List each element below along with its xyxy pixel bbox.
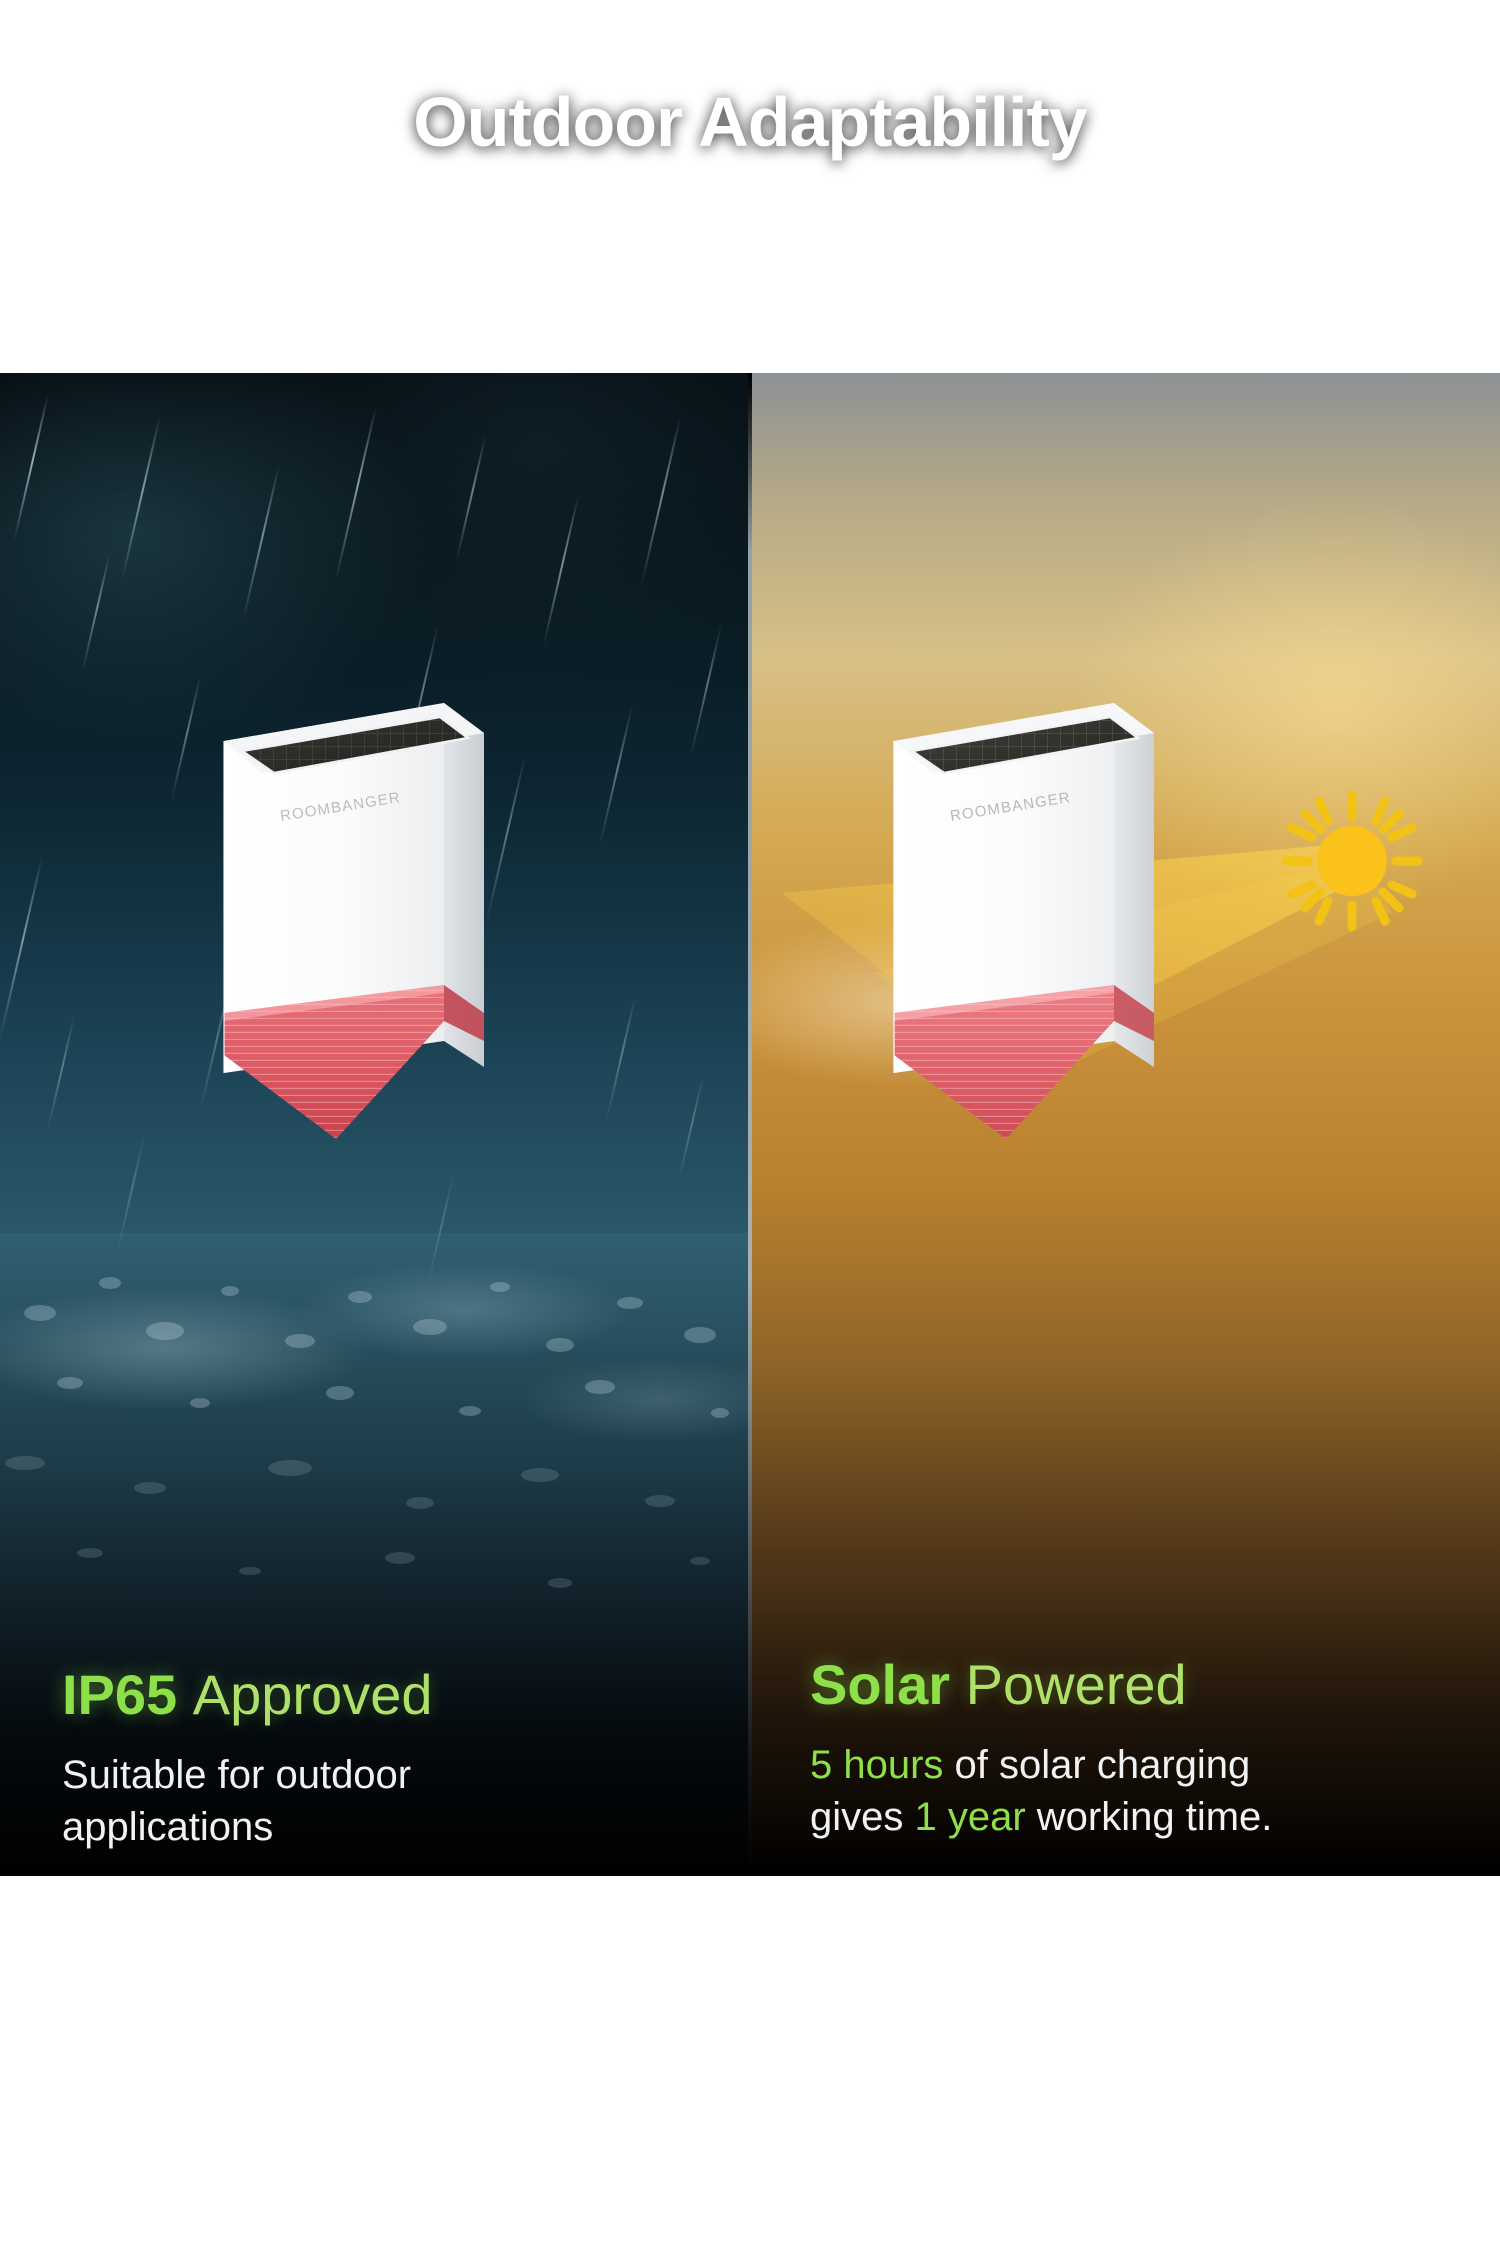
product-feature-image: ROOMBANGER	[0, 0, 1500, 2250]
caption-body-line1-left: Suitable for outdoor	[62, 1750, 702, 1801]
body-line2-rest: working time.	[1026, 1795, 1273, 1839]
sun-icon	[1272, 781, 1432, 941]
caption-body-line1-right: 5 hours of solar charging	[810, 1740, 1460, 1791]
panel-divider	[748, 373, 752, 1876]
water-droplets	[0, 1253, 748, 1673]
solar-siren-device-right: ROOMBANGER	[866, 669, 1196, 1209]
caption-body-line2-right: gives 1 year working time.	[810, 1792, 1460, 1843]
caption-body-left: Suitable for outdoor applications	[62, 1750, 702, 1852]
caption-heading-strong-left: IP65	[62, 1663, 177, 1726]
panel-rain-ip65: ROOMBANGER	[0, 373, 748, 1876]
image-banner: ROOMBANGER	[0, 373, 1500, 1876]
caption-heading-left: IP65 Approved	[62, 1665, 702, 1724]
solar-siren-device-left: ROOMBANGER	[196, 669, 526, 1209]
body-line1-rest: of solar charging	[943, 1743, 1250, 1787]
panel-solar-powered: ROOMBANGER	[752, 373, 1500, 1876]
caption-solar: Solar Powered 5 hours of solar charging …	[810, 1655, 1460, 1843]
caption-heading-strong-right: Solar	[810, 1653, 950, 1716]
highlight-year: 1 year	[915, 1795, 1026, 1839]
highlight-hours: 5 hours	[810, 1743, 943, 1787]
caption-heading-right: Solar Powered	[810, 1655, 1460, 1714]
page-title: Outdoor Adaptability	[0, 82, 1500, 162]
caption-heading-light-left: Approved	[193, 1663, 433, 1726]
caption-heading-light-right: Powered	[966, 1653, 1187, 1716]
body-line2-pre: gives	[810, 1795, 915, 1839]
caption-body-right: 5 hours of solar charging gives 1 year w…	[810, 1740, 1460, 1842]
caption-ip65: IP65 Approved Suitable for outdoor appli…	[62, 1665, 702, 1853]
caption-body-line2-left: applications	[62, 1802, 702, 1853]
